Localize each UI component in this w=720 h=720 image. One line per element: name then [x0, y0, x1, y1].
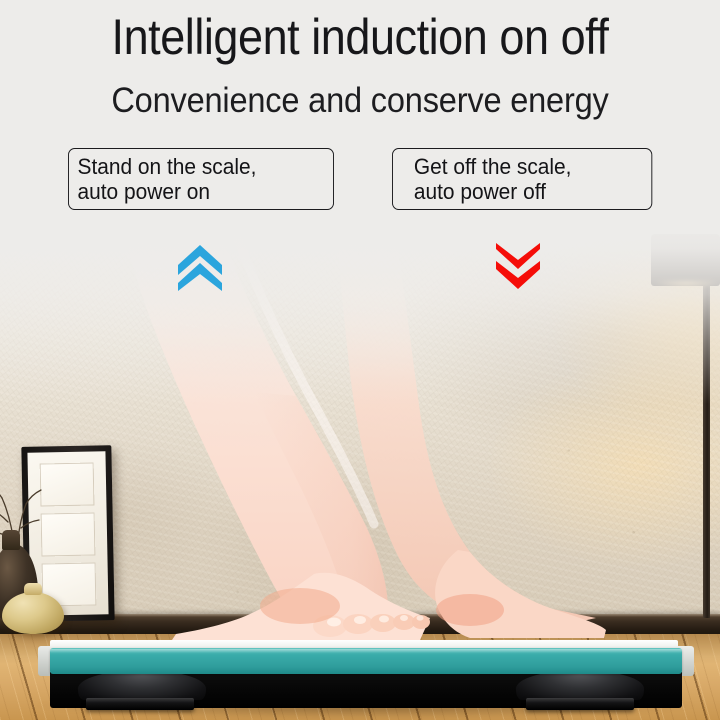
callout-group: Stand on the scale, auto power on Get of…: [0, 148, 720, 216]
scale-foot-pad: [86, 698, 194, 710]
scale-foot: [78, 670, 206, 700]
page-title: Intelligent induction on off: [36, 8, 684, 66]
page-subtitle: Convenience and conserve energy: [25, 80, 695, 122]
callout-power-off: Get off the scale, auto power off: [392, 148, 652, 210]
callout-power-on-line2: auto power on: [78, 179, 325, 204]
double-chevron-down-icon: [494, 243, 542, 291]
callout-power-off-line2: auto power off: [414, 179, 643, 204]
legs-and-feet: [0, 214, 720, 654]
callout-power-on: Stand on the scale, auto power on: [68, 148, 334, 210]
scale-foot-pad: [526, 698, 634, 710]
scale-foot: [516, 670, 644, 700]
product-poster: Intelligent induction on off Convenience…: [0, 0, 720, 720]
bathroom-scale: [26, 640, 702, 716]
double-chevron-up-icon: [176, 243, 224, 291]
scale-teal-band: [50, 648, 682, 674]
callout-power-off-line1: Get off the scale,: [414, 154, 643, 179]
callout-power-on-line1: Stand on the scale,: [78, 154, 325, 179]
